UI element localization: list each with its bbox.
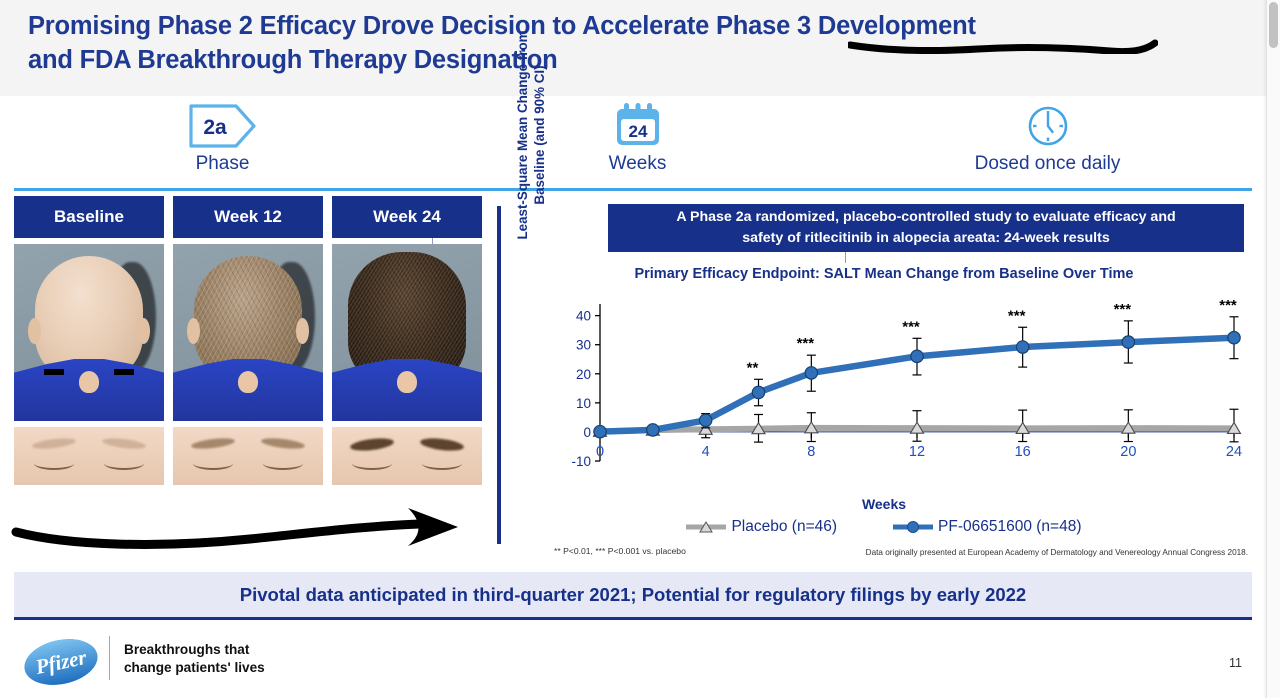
- chart-legend: Placebo (n=46) PF-06651600 (n=48): [512, 518, 1256, 536]
- highlight-weeks: 24 Weeks: [535, 96, 740, 190]
- chart-banner-line1: A Phase 2a randomized, placebo-controlle…: [676, 207, 1175, 228]
- main-content: Baseline Week 12 Week 24: [0, 196, 1266, 568]
- svg-text:20: 20: [576, 367, 591, 382]
- legend-label-placebo: Placebo (n=46): [731, 518, 837, 536]
- scalp-photo-row: [14, 244, 484, 421]
- panel-divider: [497, 206, 501, 544]
- svg-text:24: 24: [1226, 444, 1242, 460]
- chart-subtitle: Primary Efficacy Endpoint: SALT Mean Cha…: [512, 266, 1256, 282]
- highlight-phase: 2a Phase: [120, 96, 325, 190]
- page-title-line2: and FDA Breakthrough Therapy Designation: [28, 44, 1208, 78]
- placebo-marker-icon: [686, 520, 726, 534]
- phase-badge-icon: 2a: [188, 102, 258, 150]
- legend-item-drug: PF-06651600 (n=48): [893, 518, 1081, 536]
- photo-header-week12: Week 12: [173, 196, 323, 238]
- scalp-photo-week24: [332, 244, 482, 421]
- eyebrow-photo-row: [14, 427, 484, 485]
- footer-divider: [109, 636, 110, 680]
- bottom-banner-text: Pivotal data anticipated in third-quarte…: [240, 584, 1026, 606]
- svg-text:16: 16: [1015, 444, 1031, 460]
- chart-footnotes: ** P<0.01, *** P<0.001 vs. placebo Data …: [512, 546, 1256, 566]
- photo-header-baseline: Baseline: [14, 196, 164, 238]
- chart-banner-line2: safety of ritlecitinib in alopecia areat…: [742, 228, 1109, 249]
- svg-text:40: 40: [576, 309, 591, 324]
- chart-banner: A Phase 2a randomized, placebo-controlle…: [608, 204, 1244, 252]
- highlights-icon-row: 2a Phase 24 Weeks: [0, 96, 1266, 190]
- drug-marker-icon: [893, 520, 933, 534]
- footnote-significance: ** P<0.01, *** P<0.001 vs. placebo: [554, 546, 686, 556]
- svg-text:2a: 2a: [203, 116, 227, 139]
- svg-text:***: ***: [1219, 297, 1237, 314]
- svg-text:0: 0: [583, 425, 591, 440]
- svg-text:8: 8: [807, 444, 815, 460]
- svg-text:30: 30: [576, 338, 591, 353]
- svg-text:20: 20: [1120, 444, 1136, 460]
- highlight-dosing: Dosed once daily: [945, 96, 1150, 190]
- page-title: Promising Phase 2 Efficacy Drove Decisio…: [28, 10, 1208, 77]
- svg-text:***: ***: [1114, 301, 1132, 318]
- plot-area: Least-Square Mean Change from Baseline (…: [512, 292, 1256, 492]
- pfizer-logo: Pfizer: [22, 636, 100, 688]
- scalp-photo-week12: [173, 244, 323, 421]
- svg-text:***: ***: [902, 318, 920, 335]
- y-axis-label: Least-Square Mean Change from Baseline (…: [514, 30, 549, 240]
- svg-text:10: 10: [576, 396, 591, 411]
- vertical-scrollbar[interactable]: [1266, 0, 1280, 698]
- calendar-icon: 24: [612, 102, 664, 150]
- svg-text:4: 4: [702, 444, 710, 460]
- slide-footer: Pfizer Breakthroughs that change patient…: [0, 628, 1266, 698]
- line-chart: -1001020304004812162024*****************: [558, 292, 1248, 497]
- scalp-photo-baseline: [14, 244, 164, 421]
- highlight-dosing-label: Dosed once daily: [975, 153, 1121, 175]
- section-rule: [14, 188, 1252, 191]
- footer-tagline-line2: change patients' lives: [124, 659, 265, 677]
- highlight-weeks-label: Weeks: [609, 153, 667, 175]
- svg-text:***: ***: [1008, 307, 1026, 324]
- bottom-banner: Pivotal data anticipated in third-quarte…: [14, 572, 1252, 620]
- page-number: 11: [1229, 656, 1242, 670]
- footer-tagline: Breakthroughs that change patients' live…: [124, 641, 265, 677]
- footnote-source: Data originally presented at European Ac…: [866, 548, 1248, 557]
- svg-text:***: ***: [797, 335, 815, 352]
- svg-text:-10: -10: [571, 454, 591, 469]
- clock-icon: [1025, 102, 1071, 150]
- chart-panel: A Phase 2a randomized, placebo-controlle…: [512, 196, 1256, 568]
- photo-header-week24: Week 24: [332, 196, 482, 238]
- eyebrow-photo-baseline: [14, 427, 164, 485]
- handdrawn-arrow-annotation: [10, 506, 480, 562]
- eyebrow-photo-week24: [332, 427, 482, 485]
- photo-header-row: Baseline Week 12 Week 24: [14, 196, 484, 238]
- clinical-photos-panel: Baseline Week 12 Week 24: [14, 196, 484, 485]
- title-band: Promising Phase 2 Efficacy Drove Decisio…: [0, 0, 1266, 96]
- scrollbar-thumb[interactable]: [1269, 2, 1278, 48]
- svg-text:**: **: [747, 359, 759, 376]
- svg-text:0: 0: [596, 444, 604, 460]
- svg-text:12: 12: [909, 444, 925, 460]
- eyebrow-photo-week12: [173, 427, 323, 485]
- highlight-phase-label: Phase: [196, 153, 250, 175]
- legend-label-drug: PF-06651600 (n=48): [938, 518, 1081, 536]
- footer-tagline-line1: Breakthroughs that: [124, 641, 265, 659]
- x-axis-label: Weeks: [512, 496, 1256, 512]
- page-title-line1: Promising Phase 2 Efficacy Drove Decisio…: [28, 12, 976, 40]
- svg-text:24: 24: [628, 122, 647, 141]
- legend-item-placebo: Placebo (n=46): [686, 518, 837, 536]
